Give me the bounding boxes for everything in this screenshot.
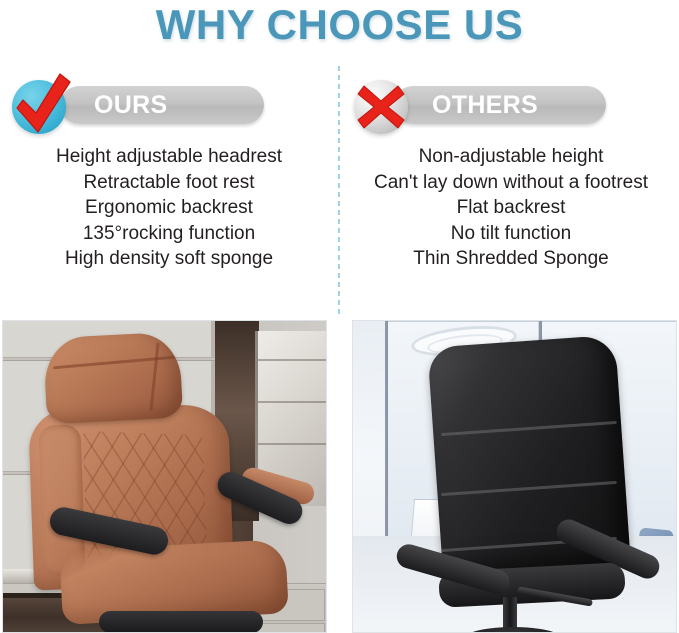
glass-shelf-line	[258, 401, 327, 403]
chair-headrest	[43, 332, 183, 425]
feature-item: High density soft sponge	[8, 246, 330, 272]
badge-ours: OURS	[8, 72, 330, 134]
page-title: WHY CHOOSE US	[0, 0, 679, 52]
feature-item: Thin Shredded Sponge	[350, 246, 672, 272]
feature-list-others: Non-adjustable height Can't lay down wit…	[350, 144, 672, 272]
feature-item: Flat backrest	[350, 195, 672, 221]
glass-shelf-line	[258, 359, 327, 361]
feature-item: Non-adjustable height	[350, 144, 672, 170]
badge-label-others: OTHERS	[432, 86, 538, 124]
x-mark-icon	[354, 80, 408, 134]
column-divider	[338, 66, 340, 318]
feature-item: Ergonomic backrest	[8, 195, 330, 221]
feature-item: Height adjustable headrest	[8, 144, 330, 170]
photo-ours-chair	[2, 320, 327, 633]
feature-item: 135°rocking function	[8, 221, 330, 247]
glass-shelf-line	[258, 443, 327, 445]
photo-others-inner	[353, 321, 676, 632]
photo-ours-inner	[3, 321, 326, 632]
column-others: OTHERS Non-adjustable height Can't lay d…	[350, 72, 672, 272]
photo-others-chair	[352, 320, 677, 633]
chair-base	[99, 611, 263, 633]
badge-label-ours: OURS	[94, 86, 167, 124]
check-mark-icon	[8, 72, 78, 142]
feature-item: No tilt function	[350, 221, 672, 247]
badge-others: OTHERS	[350, 72, 672, 134]
feature-item: Can't lay down without a footrest	[350, 170, 672, 196]
feature-item: Retractable foot rest	[8, 170, 330, 196]
column-ours: OURS Height adjustable headrest Retracta…	[8, 72, 330, 272]
feature-list-ours: Height adjustable headrest Retractable f…	[8, 144, 330, 272]
